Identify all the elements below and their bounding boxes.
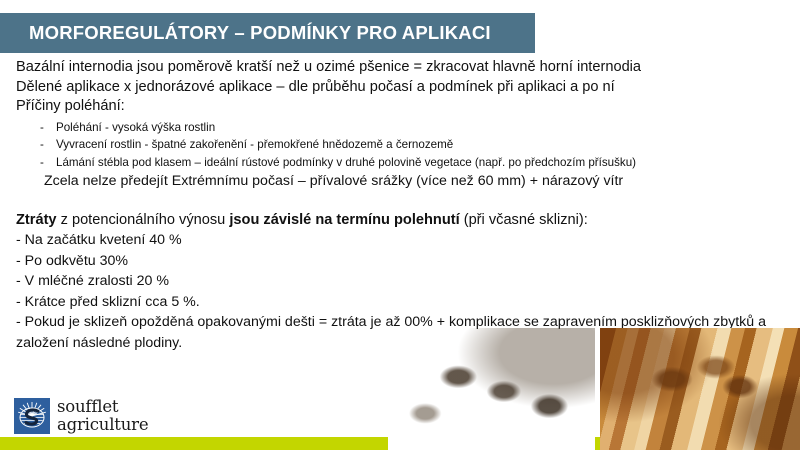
dash-marker: - (40, 119, 44, 137)
body-line-2: Dělené aplikace x jednorázové aplikace –… (0, 78, 800, 98)
photo-lodged-cereal-stems-orange (600, 328, 800, 450)
logo-wordmark: soufflet agriculture (57, 399, 148, 434)
extreme-weather-note: Zcela nelze předejít Extrémnímu počasí –… (0, 171, 800, 191)
loss-item-milk-ripeness: - V mléčné zralosti 20 % (0, 271, 800, 292)
page-title: MORFOREGULÁTORY – PODMÍNKY PRO APLIKACI (0, 22, 491, 44)
body-line-3: Příčiny poléhání: (0, 97, 800, 117)
losses-heading-bold-1: Ztráty (16, 212, 57, 228)
footer-accent-bar-segment (595, 437, 600, 450)
list-item: - Poléhání - vysoká výška rostlin (0, 119, 800, 137)
list-item: - Lámání stébla pod klasem – ideální rús… (0, 154, 800, 172)
losses-heading: Ztráty z potencionálního výnosu jsou záv… (0, 210, 800, 230)
loss-item-flowering-start: - Na začátku kvetení 40 % (0, 230, 800, 251)
loss-item-after-flowering: - Po odkvětu 30% (0, 251, 800, 272)
causes-list: - Poléhání - vysoká výška rostlin - Vyvr… (0, 119, 800, 172)
dash-marker: - (40, 154, 44, 172)
list-item-label: Poléhání - vysoká výška rostlin (56, 121, 215, 134)
photo-lodged-cereal-stems-grey (388, 328, 595, 450)
slide-body: Bazální internodia jsou poměrově kratší … (0, 58, 800, 191)
list-item-label: Vyvracení rostlin - špatné zakořenění - … (56, 138, 453, 151)
losses-heading-plain-2: (při včasné sklizni): (460, 212, 588, 228)
losses-heading-bold-2: jsou závislé na termínu polehnutí (229, 212, 459, 228)
slide-title-banner: MORFOREGULÁTORY – PODMÍNKY PRO APLIKACI (0, 13, 535, 53)
list-item-label: Lámání stébla pod klasem – ideální rústo… (56, 156, 636, 169)
dash-marker: - (40, 136, 44, 154)
loss-item-before-harvest: - Krátce před sklizní cca 5 %. (0, 292, 800, 313)
list-item: - Vyvracení rostlin - špatné zakořenění … (0, 136, 800, 154)
footer-accent-bar (0, 437, 388, 450)
logo-line-1: soufflet (57, 397, 118, 416)
logo-line-2: agriculture (57, 417, 148, 434)
body-line-1: Bazální internodia jsou poměrově kratší … (0, 58, 800, 78)
losses-heading-plain-1: z potencionálního výnosu (57, 212, 230, 228)
soufflet-agriculture-logo: soufflet agriculture (14, 398, 148, 434)
soufflet-sun-emblem-icon (14, 398, 50, 434)
